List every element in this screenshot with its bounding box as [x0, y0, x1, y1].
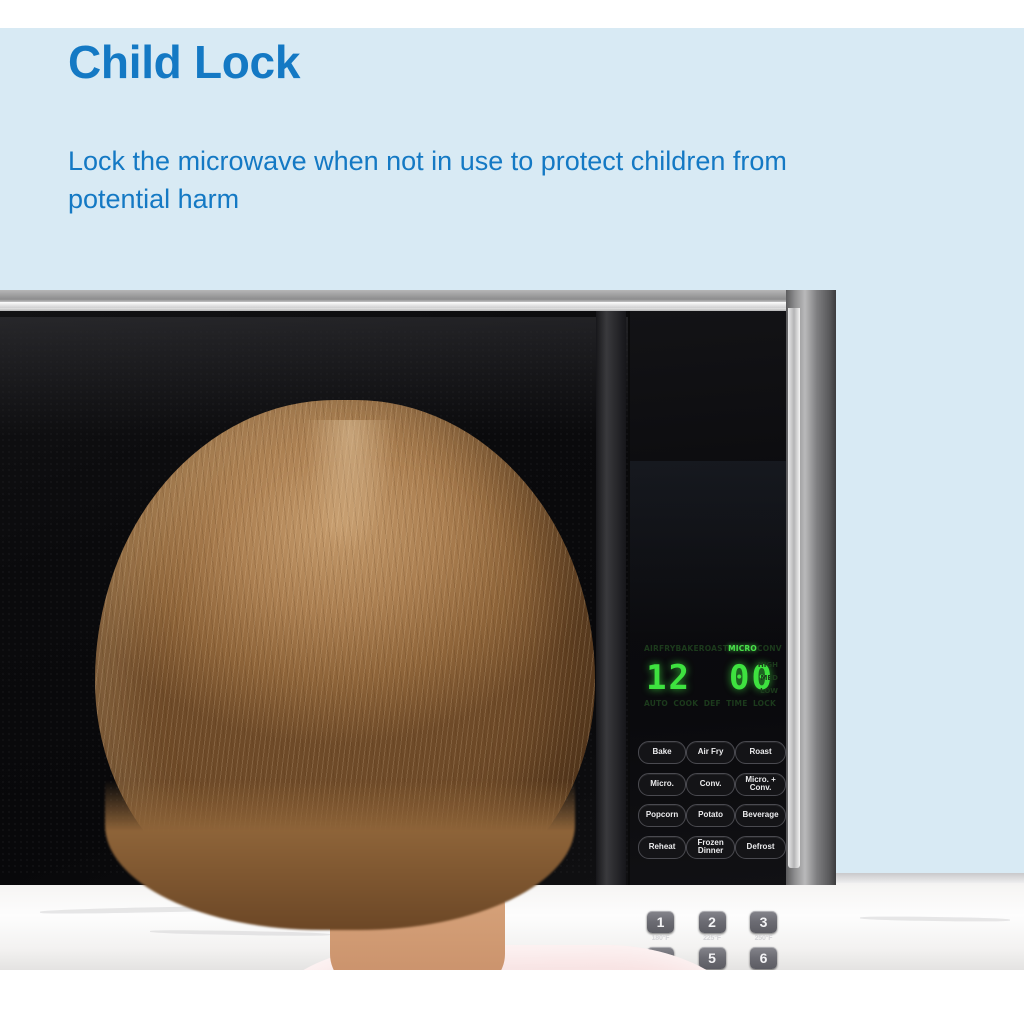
promo-graphic: Child Lock Lock the microwave when not i…	[0, 0, 1024, 1024]
key-5-digit[interactable]: 5	[699, 947, 726, 969]
button-conv[interactable]: Conv.	[686, 773, 735, 796]
key-3[interactable]: 3 250°F	[741, 911, 786, 942]
button-defrost[interactable]: Defrost	[735, 836, 786, 859]
product-photo: AIR FRY BAKE ROAST MICRO CONV 12 00 HIGH…	[0, 290, 1024, 970]
key-3-digit[interactable]: 3	[750, 911, 777, 933]
page-subtitle: Lock the microwave when not in use to pr…	[68, 142, 878, 219]
function-row-2: Micro. Conv. Micro. + Conv.	[638, 773, 786, 796]
vfd-display: AIR FRY BAKE ROAST MICRO CONV 12 00 HIGH…	[640, 644, 780, 712]
button-micro-plus-conv[interactable]: Micro. + Conv.	[735, 773, 786, 796]
keypad-row-1: 1 180°F 2 225°F 3 250°F	[638, 911, 786, 942]
function-button-grid: Bake Air Fry Roast Micro. Conv. Micro. +…	[638, 741, 786, 867]
bottom-white-margin	[0, 970, 1024, 1024]
indicator-med: MED	[760, 674, 778, 682]
key-2-digit[interactable]: 2	[699, 911, 726, 933]
display-side-indicators: HIGH MED LOW	[756, 658, 778, 698]
indicator-roast: ROAST	[699, 644, 728, 655]
child-figure	[95, 400, 655, 970]
button-frozen-dinner[interactable]: Frozen Dinner	[686, 836, 735, 859]
indicator-conv: CONV	[757, 644, 782, 655]
indicator-low: LOW	[760, 687, 778, 695]
display-top-indicators: AIR FRY BAKE ROAST MICRO CONV	[644, 644, 776, 655]
indicator-cook: COOK	[673, 699, 698, 710]
indicator-lock: LOCK	[753, 699, 776, 710]
key-2-temp: 225°F	[703, 935, 721, 942]
display-bottom-indicators: AUTO COOK DEF TIME LOCK	[644, 699, 776, 710]
function-row-4: Reheat Frozen Dinner Defrost	[638, 836, 786, 859]
button-roast[interactable]: Roast	[735, 741, 786, 764]
microwave-top-edge	[0, 290, 836, 312]
key-3-temp: 250°F	[755, 935, 773, 942]
button-beverage[interactable]: Beverage	[735, 804, 786, 827]
page-title: Child Lock	[68, 38, 300, 86]
microwave-top-sheen	[0, 302, 836, 308]
indicator-high: HIGH	[758, 661, 778, 669]
indicator-micro: MICRO	[728, 644, 757, 655]
indicator-def: DEF	[704, 699, 721, 710]
button-air-fry[interactable]: Air Fry	[686, 741, 735, 764]
key-6[interactable]: 6 325°F	[741, 947, 786, 970]
hair-crown-part	[305, 420, 395, 550]
clock-readout: 12 00	[646, 659, 774, 697]
function-row-1: Bake Air Fry Roast	[638, 741, 786, 764]
indicator-bake: BAKE	[676, 644, 699, 655]
indicator-fry: FRY	[659, 644, 676, 655]
function-row-3: Popcorn Potato Beverage	[638, 804, 786, 827]
key-2[interactable]: 2 225°F	[690, 911, 735, 942]
button-potato[interactable]: Potato	[686, 804, 735, 827]
key-6-digit[interactable]: 6	[750, 947, 777, 969]
door-handle[interactable]	[788, 308, 800, 868]
indicator-time: TIME	[726, 699, 747, 710]
